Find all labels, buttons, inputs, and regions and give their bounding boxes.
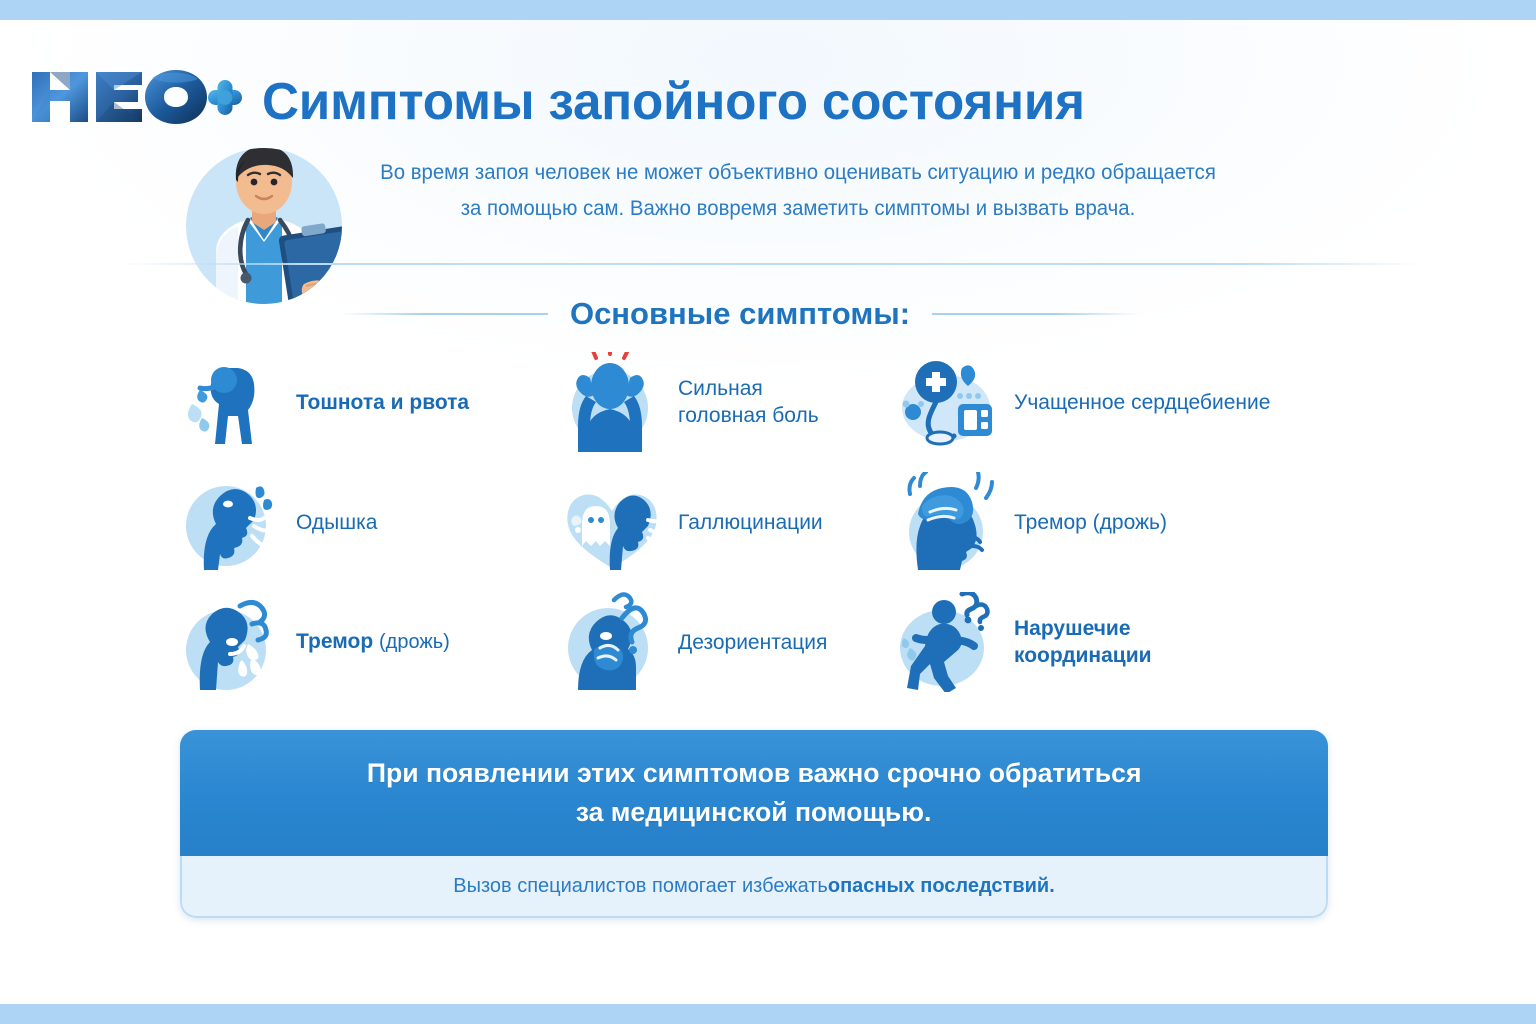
symptom-item-vomiting: Тошнота и рвота: [178, 348, 578, 456]
shortness-of-breath-icon: [178, 472, 282, 572]
symptom-label: Сильная головная боль: [678, 375, 819, 429]
section-heading-label: Основные симптомы:: [570, 296, 910, 332]
symptom-label: Дезориентация: [678, 629, 827, 656]
coordination-loss-icon: [896, 592, 1000, 692]
banner-footer: Вызов специалистов помогает избежать опа…: [180, 856, 1328, 918]
symptom-label: Тремор (дрожь): [296, 628, 450, 656]
symptom-label: Тошнота и рвота: [296, 389, 469, 416]
symptom-label: Одышка: [296, 509, 377, 536]
heartbeat-monitor-icon: [896, 352, 1000, 452]
header-divider: [118, 263, 1424, 265]
symptom-item-tremor-head: Тремор (дрожь): [896, 468, 1356, 576]
heading-rule-left: [340, 313, 548, 315]
banner-line-1: При появлении этих симптомов важно срочн…: [367, 754, 1142, 793]
symptom-label: Тремор (дрожь): [1014, 509, 1167, 536]
header: Симптомы запойного состояния: [0, 28, 1536, 116]
bottom-accent-strip: [0, 1004, 1536, 1024]
call-to-action-banner: При появлении этих симптомов важно срочн…: [180, 730, 1328, 918]
intro-line-2: за помощью сам. Важно вовремя заметить с…: [332, 191, 1263, 227]
symptom-item-coordination: Нарушечие координации: [896, 588, 1356, 696]
banner-line-2: за медицинской помощью.: [576, 793, 932, 832]
section-heading: Основные симптомы:: [340, 292, 1140, 336]
heading-rule-right: [932, 313, 1140, 315]
infographic-page: Симптомы запойного состояния: [0, 0, 1536, 1024]
symptom-label: Учащенное сердцебиение: [1014, 389, 1270, 416]
symptom-item-dyspnea: Одышка: [178, 468, 578, 576]
symptom-item-heartbeat: Учащенное сердцебиение: [896, 348, 1356, 456]
tremor-head-icon: [896, 472, 1000, 572]
page-title: Симптомы запойного состояния: [262, 72, 1085, 132]
symptom-item-tremor-sweating: Тремор (дрожь): [178, 588, 578, 696]
neo-plus-logo: [30, 68, 242, 126]
headache-icon: [560, 352, 664, 452]
tremor-sweating-icon: [178, 592, 282, 692]
doctor-avatar: [176, 134, 352, 310]
symptom-item-hallucinations: Галлюцинации: [560, 468, 940, 576]
symptom-label: Нарушечие координации: [1014, 615, 1152, 669]
banner-footer-plain: Вызов специалистов помогает избежать: [453, 875, 828, 898]
symptom-grid: Тошнота и рвота Сильная головная бол: [178, 348, 1358, 698]
intro-line-1: Во время запоя человек не может объектив…: [332, 155, 1263, 191]
banner-footer-bold: опасных последствий.: [828, 875, 1055, 898]
intro-paragraph: Во время запоя человек не может объектив…: [332, 155, 1263, 227]
vomiting-icon: [178, 352, 282, 452]
hallucination-ghost-icon: [560, 472, 664, 572]
banner-message: При появлении этих симптомов важно срочн…: [180, 730, 1328, 856]
symptom-item-disorientation: Дезориентация: [560, 588, 940, 696]
disorientation-icon: [560, 592, 664, 692]
symptom-item-headache: Сильная головная боль: [560, 348, 940, 456]
symptom-label: Галлюцинации: [678, 509, 823, 536]
top-accent-strip: [0, 0, 1536, 20]
